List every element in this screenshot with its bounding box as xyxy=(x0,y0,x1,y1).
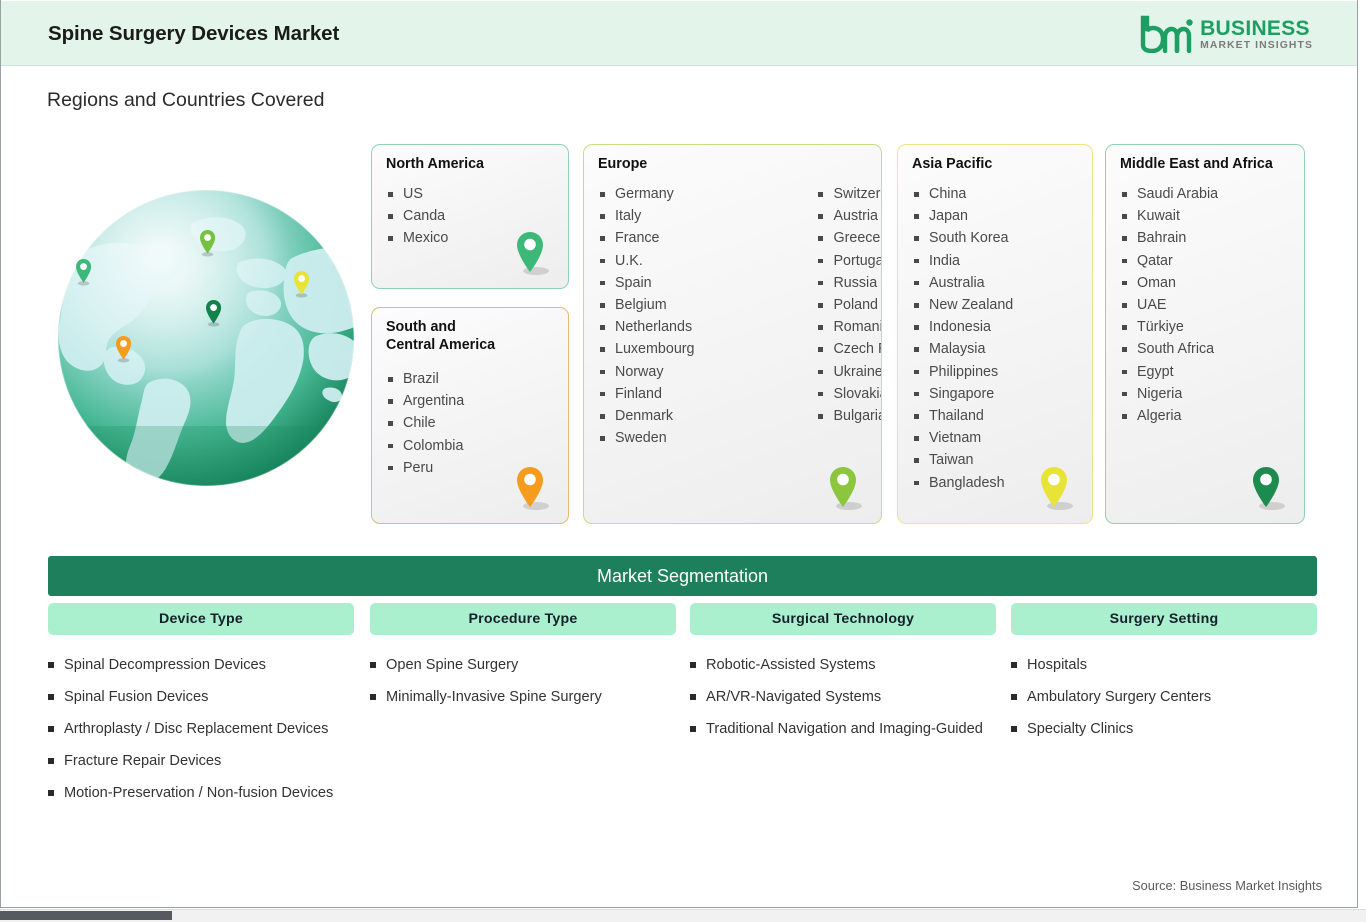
segment-header-surgical-technology[interactable]: Surgical Technology xyxy=(690,603,996,635)
country-item: U.K. xyxy=(598,250,694,272)
country-item: South Korea xyxy=(912,227,1013,249)
country-item: Algeria xyxy=(1120,405,1218,427)
country-item: Finland xyxy=(598,383,694,405)
country-item: Egypt xyxy=(1120,361,1218,383)
country-item: Saudi Arabia xyxy=(1120,183,1218,205)
country-item: UAE xyxy=(1120,294,1218,316)
page-title: Spine Surgery Devices Market xyxy=(48,22,339,46)
segment-header-device-type[interactable]: Device Type xyxy=(48,603,354,635)
region-card-south-central-america[interactable]: South and Central America Brazil Argenti… xyxy=(371,307,569,524)
brand-logo: BUSINESS MARKET INSIGHTS xyxy=(1139,12,1313,55)
segment-column-procedure-type: Open Spine Surgery Minimally-Invasive Sp… xyxy=(370,653,676,717)
horizontal-scrollbar-thumb[interactable] xyxy=(0,911,172,920)
region-card-title: Middle East and Africa xyxy=(1120,156,1273,174)
market-segmentation-title: Market Segmentation xyxy=(597,566,768,587)
segment-item: Hospitals xyxy=(1011,653,1317,677)
country-item: Denmark xyxy=(598,405,694,427)
logo-tagline-text: MARKET INSIGHTS xyxy=(1200,41,1313,51)
segment-column-surgical-technology: Robotic-Assisted Systems AR/VR-Navigated… xyxy=(690,653,996,749)
country-item: Malaysia xyxy=(912,338,1013,360)
country-item: Ukraine xyxy=(816,361,882,383)
country-item: Sweden xyxy=(598,427,694,449)
region-card-title: South and Central America xyxy=(386,319,495,355)
segment-item: Motion-Preservation / Non-fusion Devices xyxy=(48,781,354,805)
segment-item: Ambulatory Surgery Centers xyxy=(1011,685,1317,709)
source-label: Source: Business Market Insights xyxy=(1132,878,1322,893)
country-item: Spain xyxy=(598,272,694,294)
region-country-list: China Japan South Korea India Australia … xyxy=(912,183,1013,494)
horizontal-scrollbar-track[interactable] xyxy=(0,909,1366,922)
segment-header-surgery-setting[interactable]: Surgery Setting xyxy=(1011,603,1317,635)
segment-item-list: Spinal Decompression Devices Spinal Fusi… xyxy=(48,653,354,805)
country-item: Brazil xyxy=(386,368,464,390)
country-item: India xyxy=(912,250,1013,272)
country-item: Austria xyxy=(816,205,882,227)
country-item: Bangladesh xyxy=(912,472,1013,494)
region-country-list: Brazil Argentina Chile Colombia Peru xyxy=(386,368,464,479)
segment-item: Fracture Repair Devices xyxy=(48,749,354,773)
region-card-title: Europe xyxy=(598,156,647,174)
country-item: Norway xyxy=(598,361,694,383)
country-item: Netherlands xyxy=(598,316,694,338)
europe-card-pin-icon xyxy=(823,462,863,517)
segment-item: Minimally-Invasive Spine Surgery xyxy=(370,685,676,709)
segment-column-device-type: Spinal Decompression Devices Spinal Fusi… xyxy=(48,653,354,813)
country-item: Italy xyxy=(598,205,694,227)
country-item: Greece xyxy=(816,227,882,249)
country-item: Belgium xyxy=(598,294,694,316)
country-item: Singapore xyxy=(912,383,1013,405)
country-item: Russia xyxy=(816,272,882,294)
country-item: Peru xyxy=(386,457,464,479)
country-item: South Africa xyxy=(1120,338,1218,360)
segment-item: Spinal Decompression Devices xyxy=(48,653,354,677)
segment-item: Robotic-Assisted Systems xyxy=(690,653,996,677)
country-item: Bulgaria xyxy=(816,405,882,427)
country-item: China xyxy=(912,183,1013,205)
infographic-page: Spine Surgery Devices Market BUSINESS MA… xyxy=(0,0,1366,922)
segment-column-surgery-setting: Hospitals Ambulatory Surgery Centers Spe… xyxy=(1011,653,1317,749)
country-item: Türkiye xyxy=(1120,316,1218,338)
segment-item-list: Open Spine Surgery Minimally-Invasive Sp… xyxy=(370,653,676,709)
country-item: Thailand xyxy=(912,405,1013,427)
region-card-north-america[interactable]: North America US Canda Mexico xyxy=(371,144,569,289)
country-item: Kuwait xyxy=(1120,205,1218,227)
country-item: Switzerland xyxy=(816,183,882,205)
country-item: Bahrain xyxy=(1120,227,1218,249)
logo-brand-text: BUSINESS xyxy=(1200,18,1313,39)
segment-item: Traditional Navigation and Imaging-Guide… xyxy=(690,717,996,741)
region-card-europe[interactable]: Europe Germany Italy France U.K. Spain B… xyxy=(583,144,882,524)
country-item: Philippines xyxy=(912,361,1013,383)
market-segmentation-bar: Market Segmentation xyxy=(48,556,1317,596)
page-header: Spine Surgery Devices Market BUSINESS MA… xyxy=(1,1,1357,66)
region-country-list-col2: Switzerland Austria Greece Portugal Russ… xyxy=(816,183,882,449)
segment-item: Open Spine Surgery xyxy=(370,653,676,677)
country-item: Colombia xyxy=(386,435,464,457)
country-item: Australia xyxy=(912,272,1013,294)
region-card-title: North America xyxy=(386,156,484,174)
country-item: Canda xyxy=(386,205,448,227)
country-item: Indonesia xyxy=(912,316,1013,338)
segment-item-list: Hospitals Ambulatory Surgery Centers Spe… xyxy=(1011,653,1317,741)
country-item: Luxembourg xyxy=(598,338,694,360)
section-title: Regions and Countries Covered xyxy=(47,89,325,112)
country-item: France xyxy=(598,227,694,249)
region-country-list-col1: Germany Italy France U.K. Spain Belgium … xyxy=(598,183,694,449)
segment-item: Specialty Clinics xyxy=(1011,717,1317,741)
country-item: Czech Republic xyxy=(816,338,882,360)
region-card-title-line2: Central America xyxy=(386,337,495,353)
region-card-title: Asia Pacific xyxy=(912,156,992,174)
south-central-america-card-pin-icon xyxy=(510,462,550,517)
country-item: Chile xyxy=(386,412,464,434)
country-item: Argentina xyxy=(386,390,464,412)
country-item: Taiwan xyxy=(912,449,1013,471)
country-item: Poland xyxy=(816,294,882,316)
segment-item: AR/VR-Navigated Systems xyxy=(690,685,996,709)
region-card-title-line1: South and xyxy=(386,319,456,335)
asia-pacific-card-pin-icon xyxy=(1034,462,1074,517)
segment-header-procedure-type[interactable]: Procedure Type xyxy=(370,603,676,635)
region-country-list: US Canda Mexico xyxy=(386,183,448,250)
segment-item-list: Robotic-Assisted Systems AR/VR-Navigated… xyxy=(690,653,996,741)
north-america-card-pin-icon xyxy=(510,227,550,282)
region-country-list: Saudi Arabia Kuwait Bahrain Qatar Oman U… xyxy=(1120,183,1218,427)
country-item: US xyxy=(386,183,448,205)
country-item: Mexico xyxy=(386,227,448,249)
bmi-logo-mark-icon xyxy=(1139,15,1193,53)
country-item: Japan xyxy=(912,205,1013,227)
region-card-asia-pacific[interactable]: Asia Pacific China Japan South Korea Ind… xyxy=(897,144,1093,524)
country-item: Qatar xyxy=(1120,250,1218,272)
globe-illustration xyxy=(54,188,359,493)
middle-east-africa-card-pin-icon xyxy=(1246,462,1286,517)
country-item: Nigeria xyxy=(1120,383,1218,405)
country-item: Vietnam xyxy=(912,427,1013,449)
country-item: Slovakia xyxy=(816,383,882,405)
country-item: Portugal xyxy=(816,250,882,272)
country-item: Oman xyxy=(1120,272,1218,294)
segment-item: Spinal Fusion Devices xyxy=(48,685,354,709)
segment-item: Arthroplasty / Disc Replacement Devices xyxy=(48,717,354,741)
country-item: New Zealand xyxy=(912,294,1013,316)
region-card-middle-east-africa[interactable]: Middle East and Africa Saudi Arabia Kuwa… xyxy=(1105,144,1305,524)
country-item: Germany xyxy=(598,183,694,205)
country-item: Romania xyxy=(816,316,882,338)
